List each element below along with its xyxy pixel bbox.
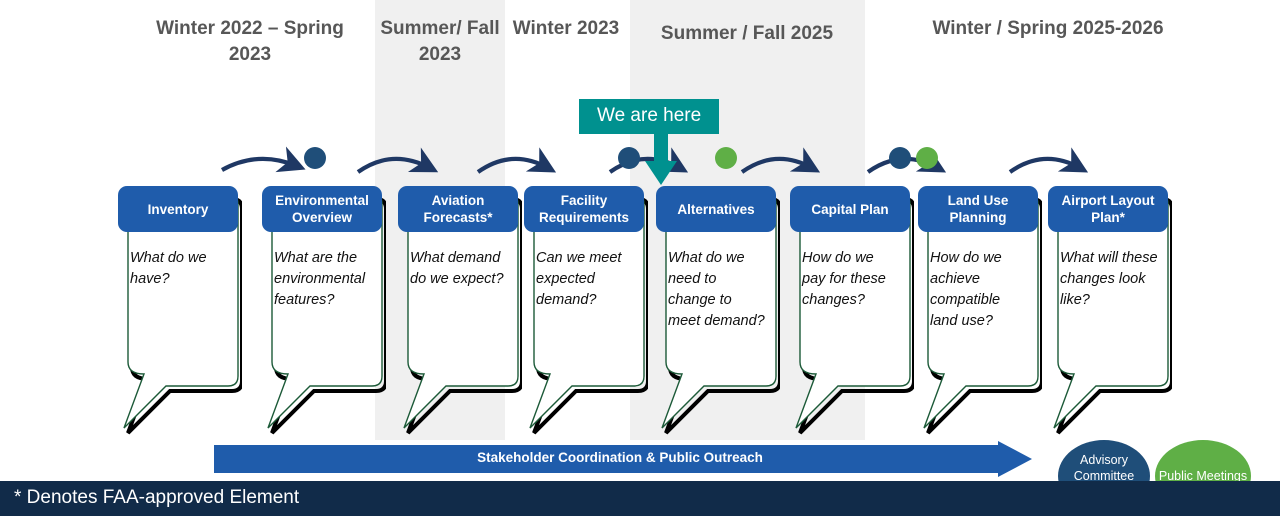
phase-label-0: Winter 2022 – Spring 2023 (150, 16, 350, 68)
phase-card-7[interactable]: Airport Layout Plan*What will these chan… (1048, 186, 1168, 432)
we-are-here-marker: We are here (579, 99, 719, 134)
milestone-dot-blue-0 (304, 147, 326, 169)
phase-card-0[interactable]: InventoryWhat do we have? (118, 186, 238, 432)
phase-card-title-0[interactable]: Inventory (118, 186, 238, 232)
phase-card-title-4[interactable]: Alternatives (656, 186, 776, 232)
phase-label-4: Winter / Spring 2025-2026 (900, 16, 1196, 42)
phase-card-1[interactable]: Environmental OverviewWhat are the envir… (262, 186, 382, 432)
phase-label-1: Summer/ Fall 2023 (378, 16, 502, 68)
phase-card-3[interactable]: Facility RequirementsCan we meet expecte… (524, 186, 644, 432)
we-are-here-label: We are here (579, 99, 719, 134)
we-are-here-arrow-icon (643, 133, 679, 187)
phase-label-2: Winter 2023 (510, 16, 622, 42)
stakeholder-label: Stakeholder Coordination & Public Outrea… (214, 450, 1026, 465)
milestone-dot-blue-1 (618, 147, 640, 169)
phase-card-question-3: Can we meet expected demand? (536, 248, 634, 311)
phase-card-question-5: How do we pay for these changes? (802, 248, 900, 311)
phase-card-question-4: What do we need to change to meet demand… (668, 248, 766, 332)
milestone-dot-green-4 (916, 147, 938, 169)
phase-card-question-7: What will these changes look like? (1060, 248, 1158, 311)
phase-card-question-2: What demand do we expect? (410, 248, 508, 290)
phase-card-question-0: What do we have? (130, 248, 228, 290)
milestone-dot-green-2 (715, 147, 737, 169)
phase-card-question-1: What are the environmental features? (274, 248, 372, 311)
phase-label-3: Summer / Fall 2025 (640, 21, 854, 47)
phase-card-2[interactable]: Aviation Forecasts*What demand do we exp… (398, 186, 518, 432)
faa-footnote: * Denotes FAA-approved Element (14, 487, 299, 509)
phase-card-5[interactable]: Capital PlanHow do we pay for these chan… (790, 186, 910, 432)
phase-card-title-5[interactable]: Capital Plan (790, 186, 910, 232)
phase-card-title-7[interactable]: Airport Layout Plan* (1048, 186, 1168, 232)
phase-card-6[interactable]: Land Use PlanningHow do we achieve compa… (918, 186, 1038, 432)
phase-card-4[interactable]: AlternativesWhat do we need to change to… (656, 186, 776, 432)
phase-card-question-6: How do we achieve compatible land use? (930, 248, 1028, 332)
phase-card-title-6[interactable]: Land Use Planning (918, 186, 1038, 232)
milestone-dot-blue-3 (889, 147, 911, 169)
phase-card-title-3[interactable]: Facility Requirements (524, 186, 644, 232)
phase-card-title-2[interactable]: Aviation Forecasts* (398, 186, 518, 232)
timeline-diagram: Winter 2022 – Spring 2023Summer/ Fall 20… (0, 0, 1280, 516)
phase-card-title-1[interactable]: Environmental Overview (262, 186, 382, 232)
